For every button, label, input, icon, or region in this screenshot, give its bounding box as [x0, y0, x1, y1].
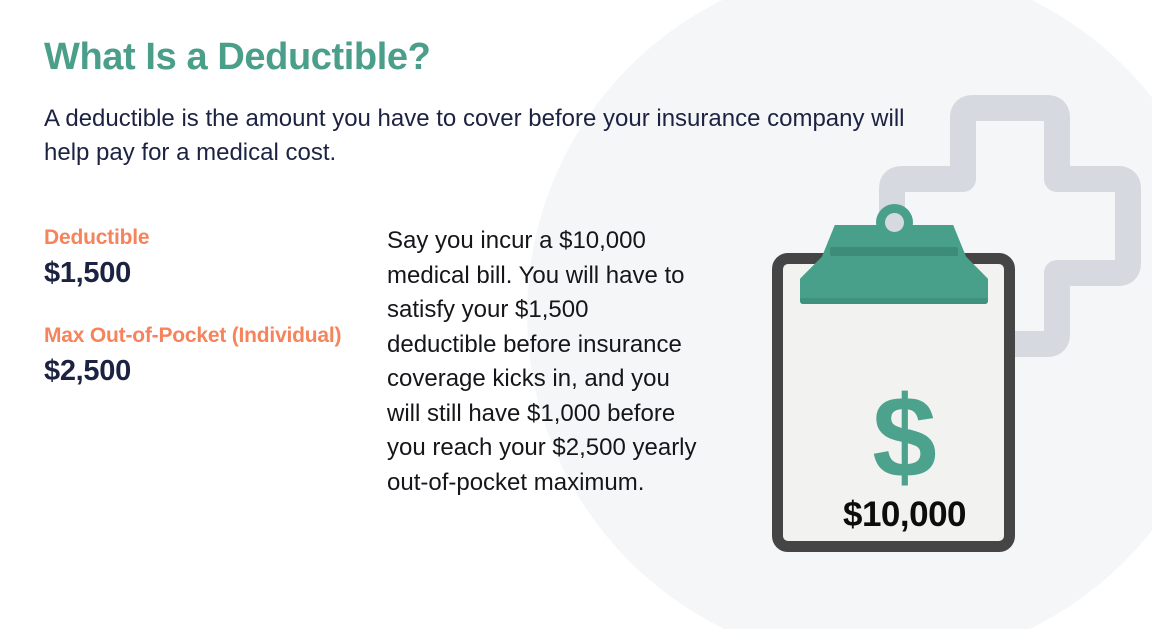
- page-subtitle: A deductible is the amount you have to c…: [44, 102, 914, 170]
- stat-value: $2,500: [44, 352, 344, 390]
- stats-list: Deductible $1,500 Max Out-of-Pocket (Ind…: [44, 224, 344, 390]
- stat-label: Deductible: [44, 224, 344, 252]
- stat-item-max-out-of-pocket: Max Out-of-Pocket (Individual) $2,500: [44, 322, 344, 390]
- deductible-infographic: $ $10,000 What Is a Deductible? A deduct…: [0, 0, 1152, 629]
- stat-label: Max Out-of-Pocket (Individual): [44, 322, 344, 350]
- stat-value: $1,500: [44, 254, 344, 292]
- stat-item-deductible: Deductible $1,500: [44, 224, 344, 292]
- explanation-paragraph: Say you incur a $10,000 medical bill. Yo…: [387, 224, 702, 500]
- page-title: What Is a Deductible?: [44, 36, 430, 79]
